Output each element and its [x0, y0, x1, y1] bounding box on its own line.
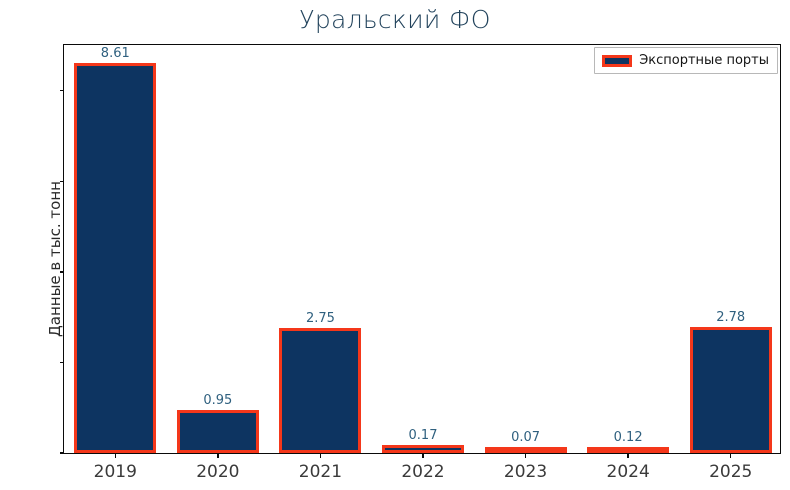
- bar-chart-figure: Уральский ФО Данные в тыс. тонн 02468 20…: [0, 0, 790, 490]
- bar-value-label-2019: 8.61: [74, 46, 156, 61]
- bar-2025[interactable]: 2.78: [690, 327, 772, 453]
- legend-label-exportnye-porty: Экспортные порты: [639, 53, 769, 68]
- bar-2019[interactable]: 8.61: [74, 63, 156, 453]
- bar-rect-2023: [485, 447, 567, 453]
- x-axis-tick-label-2025: 2025: [691, 462, 771, 482]
- bar-rect-2020: [177, 410, 259, 453]
- bar-rect-2019: [74, 63, 156, 453]
- x-axis-tick-label-2023: 2023: [486, 462, 566, 482]
- x-axis-tick-mark: [320, 453, 321, 458]
- bar-value-label-2023: 0.07: [485, 430, 567, 445]
- x-axis-tick-mark: [422, 453, 423, 458]
- x-axis-tick-label-2020: 2020: [178, 462, 258, 482]
- bar-rect-2022: [382, 445, 464, 453]
- bar-rect-2025: [690, 327, 772, 453]
- legend[interactable]: Экспортные порты: [594, 47, 778, 74]
- x-axis-tick-mark: [730, 453, 731, 458]
- bar-2020[interactable]: 0.95: [177, 410, 259, 453]
- x-axis-tick-label-2024: 2024: [588, 462, 668, 482]
- legend-swatch-exportnye-porty: [602, 55, 632, 67]
- bar-value-label-2022: 0.17: [382, 428, 464, 443]
- y-axis-label: Данные в тыс. тонн: [46, 54, 64, 464]
- bar-value-label-2024: 0.12: [587, 430, 669, 445]
- bar-value-label-2025: 2.78: [690, 310, 772, 325]
- page-title: Уральский ФО: [0, 4, 790, 36]
- x-axis-tick-mark: [115, 453, 116, 458]
- x-axis-tick-mark: [525, 453, 526, 458]
- x-axis-tick-label-2019: 2019: [75, 462, 155, 482]
- bar-2021[interactable]: 2.75: [279, 328, 361, 453]
- x-axis-tick-label-2022: 2022: [383, 462, 463, 482]
- bar-rect-2021: [279, 328, 361, 453]
- plot-frame: Данные в тыс. тонн 02468 201920202021202…: [63, 44, 781, 454]
- bar-value-label-2020: 0.95: [177, 393, 259, 408]
- bar-rect-2024: [587, 447, 669, 453]
- bar-2023[interactable]: 0.07: [485, 447, 567, 453]
- x-axis-tick-mark: [627, 453, 628, 458]
- x-axis-tick-mark: [217, 453, 218, 458]
- plot-area: 8.610.952.750.170.070.122.78: [64, 45, 780, 453]
- x-axis-tick-label-2021: 2021: [280, 462, 360, 482]
- bar-value-label-2021: 2.75: [279, 311, 361, 326]
- bar-2024[interactable]: 0.12: [587, 447, 669, 453]
- bar-2022[interactable]: 0.17: [382, 445, 464, 453]
